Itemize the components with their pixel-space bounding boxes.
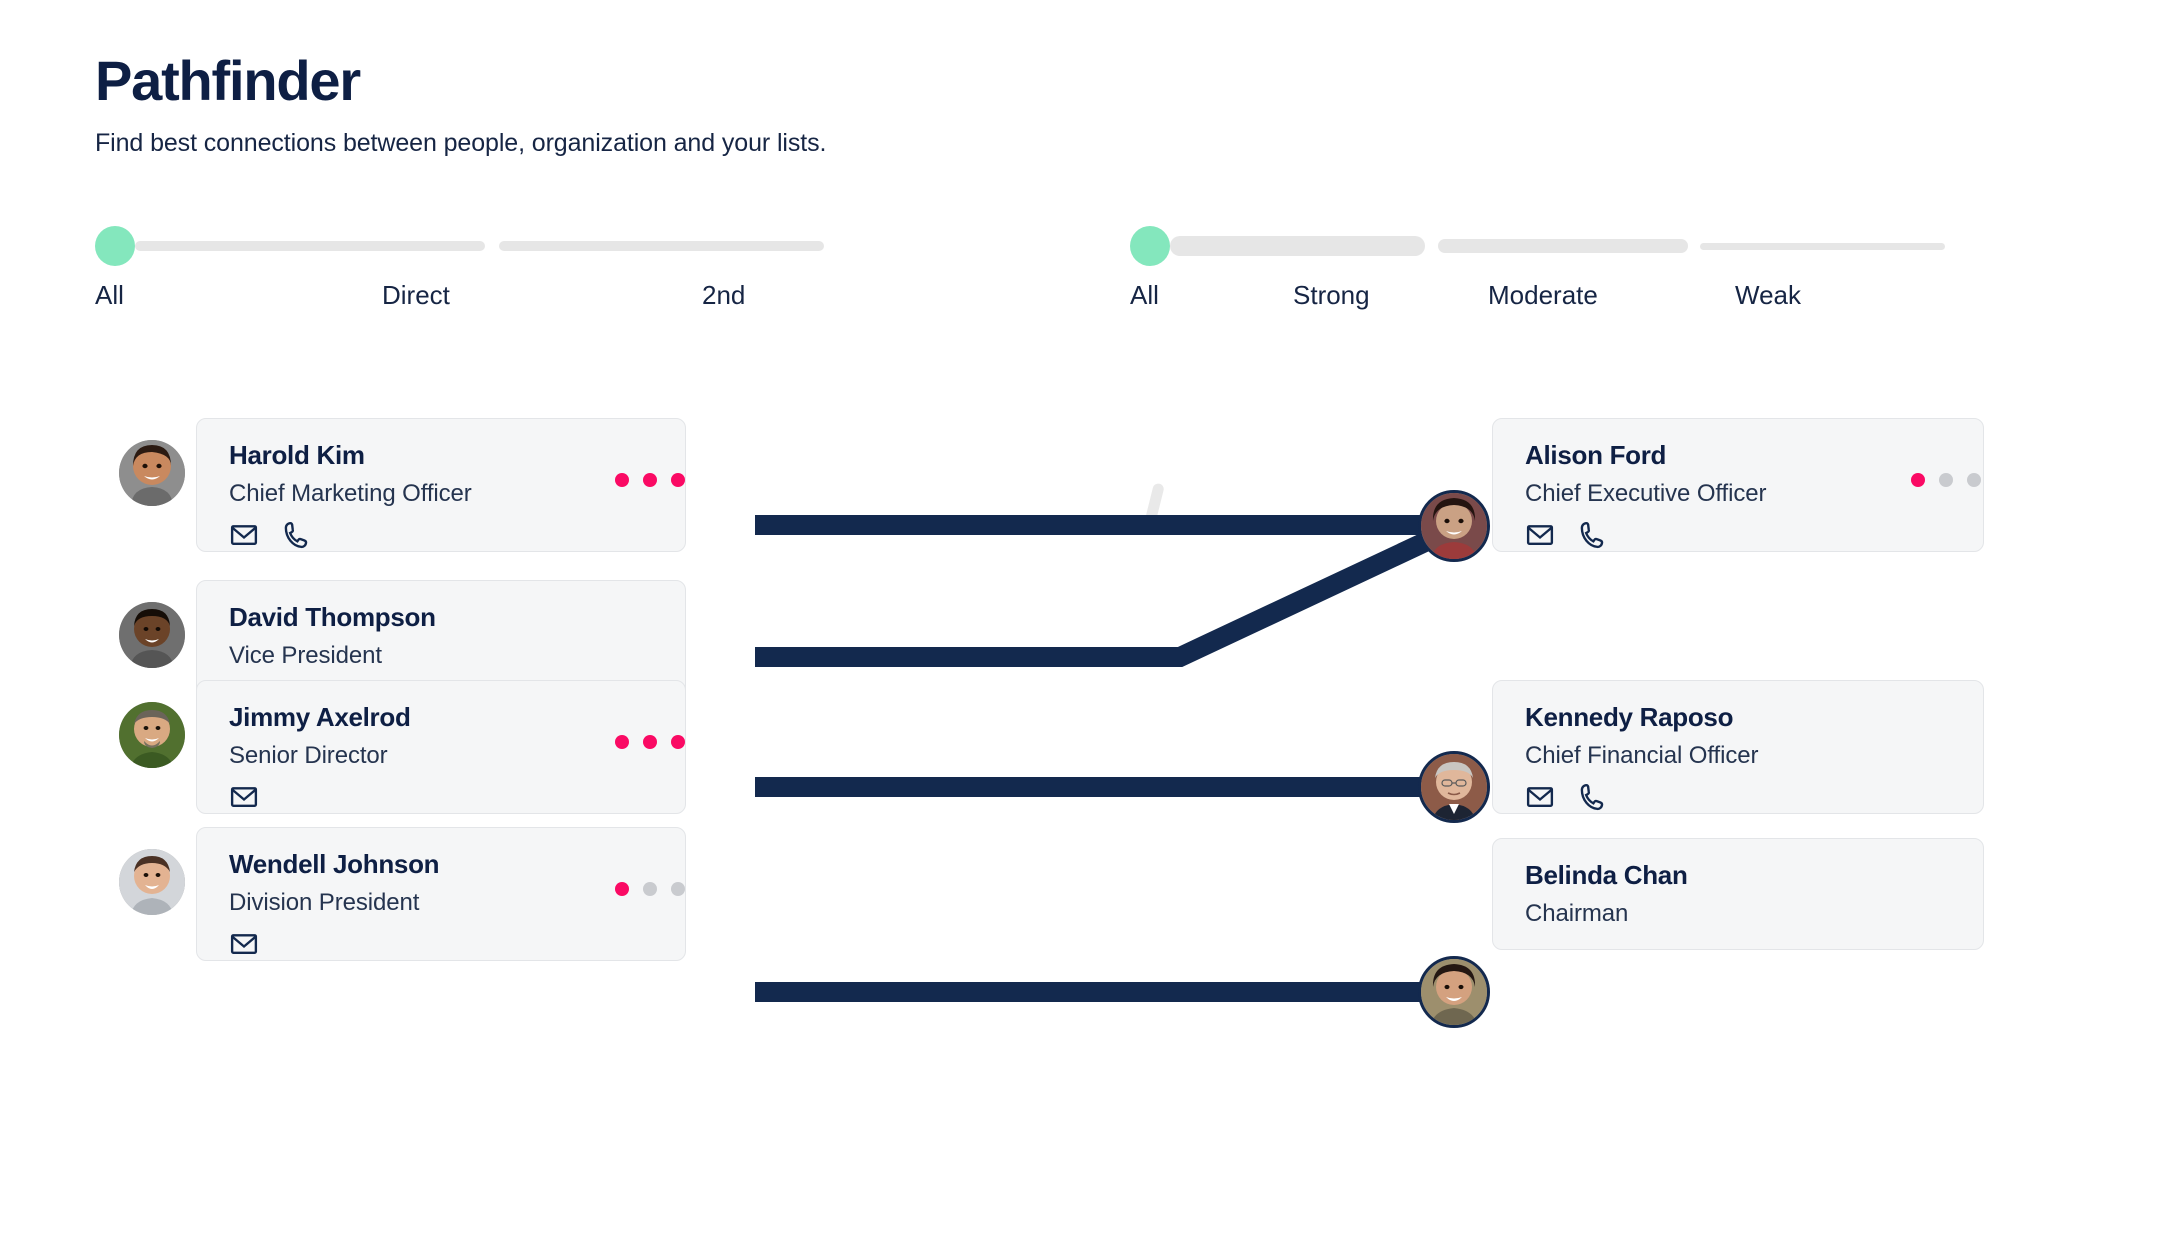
degree-slider-labels: All Direct 2nd [95,280,1015,326]
person-role: Division President [229,889,655,917]
strength-track-segment-2[interactable] [1438,239,1688,253]
connection-graph: Harold Kim Chief Marketing Officer [0,380,2178,1200]
person-role: Vice President [229,642,655,670]
email-icon[interactable] [1525,782,1555,812]
person-card-wendell-johnson[interactable]: Wendell Johnson Division President [196,827,686,961]
person-role: Chairman [1525,900,1953,928]
strength-track-segment-1[interactable] [1170,236,1425,256]
person-name: Alison Ford [1525,441,1953,471]
person-actions [229,520,655,550]
person-name: Jimmy Axelrod [229,703,655,733]
strength-dot [615,735,629,749]
person-role: Senior Director [229,742,655,770]
avatar-jimmy-axelrod[interactable] [119,702,185,768]
strength-dot [615,882,629,896]
strength-slider-track[interactable] [1130,218,2085,272]
person-card-harold-kim[interactable]: Harold Kim Chief Marketing Officer [196,418,686,552]
avatar-wendell-johnson[interactable] [119,849,185,915]
avatar-david-thompson[interactable] [119,602,185,668]
person-name: Harold Kim [229,441,655,471]
strength-dot [1967,473,1981,487]
page-subtitle: Find best connections between people, or… [95,129,826,158]
avatar-image [1421,493,1487,559]
connection-strength-slider[interactable]: All Strong Moderate Weak [1130,218,2085,326]
avatar-belinda-chan[interactable] [1418,956,1490,1028]
person-card-alison-ford[interactable]: Alison Ford Chief Executive Officer [1492,418,1984,552]
page-title: Pathfinder [95,52,826,111]
person-actions [229,782,655,812]
strength-dot [643,735,657,749]
connection-strength-indicator [1911,473,1981,487]
avatar-image [1421,959,1487,1025]
degree-slider-thumb[interactable] [95,226,135,266]
degree-track-segment-2[interactable] [499,241,824,251]
strength-dot [1939,473,1953,487]
strength-dot [615,473,629,487]
avatar-image [119,440,185,506]
email-icon[interactable] [229,520,259,550]
pathfinder-page: Pathfinder Find best connections between… [0,0,2178,1251]
email-icon[interactable] [229,929,259,959]
person-role: Chief Executive Officer [1525,480,1953,508]
degree-slider-track[interactable] [95,218,1015,272]
person-card-belinda-chan[interactable]: Belinda Chan Chairman [1492,838,1984,950]
email-icon[interactable] [1525,520,1555,550]
avatar-kennedy-raposo[interactable] [1418,751,1490,823]
degree-track-segment-1[interactable] [135,241,485,251]
person-actions [1525,520,1953,550]
connection-strength-indicator [615,882,685,896]
degree-option-direct[interactable]: Direct [382,280,450,311]
strength-dot [671,473,685,487]
avatar-image [119,602,185,668]
strength-option-all[interactable]: All [1130,280,1159,311]
strength-dot [671,882,685,896]
avatar-image [1421,754,1487,820]
filter-bar: All Direct 2nd All Strong Moderate Weak [95,218,2085,348]
page-header: Pathfinder Find best connections between… [95,52,826,158]
person-name: Belinda Chan [1525,861,1953,891]
avatar-harold-kim[interactable] [119,440,185,506]
strength-option-moderate[interactable]: Moderate [1488,280,1598,311]
phone-icon[interactable] [281,520,311,550]
strength-track-segment-3[interactable] [1700,243,1945,250]
strength-dot [643,473,657,487]
person-name: Wendell Johnson [229,850,655,880]
avatar-image [119,849,185,915]
connection-strength-indicator [615,735,685,749]
strength-option-strong[interactable]: Strong [1293,280,1370,311]
person-role: Chief Financial Officer [1525,742,1953,770]
strength-slider-thumb[interactable] [1130,226,1170,266]
person-name: Kennedy Raposo [1525,703,1953,733]
person-card-jimmy-axelrod[interactable]: Jimmy Axelrod Senior Director [196,680,686,814]
degree-option-2nd[interactable]: 2nd [702,280,745,311]
strength-slider-labels: All Strong Moderate Weak [1130,280,2085,326]
strength-option-weak[interactable]: Weak [1735,280,1801,311]
person-role: Chief Marketing Officer [229,480,655,508]
strength-dot [643,882,657,896]
person-name: David Thompson [229,603,655,633]
person-actions [1525,782,1953,812]
person-card-kennedy-raposo[interactable]: Kennedy Raposo Chief Financial Officer [1492,680,1984,814]
person-actions [229,929,655,959]
strength-dot [671,735,685,749]
phone-icon[interactable] [1577,782,1607,812]
email-icon[interactable] [229,782,259,812]
degree-option-all[interactable]: All [95,280,124,311]
connection-degree-slider[interactable]: All Direct 2nd [95,218,1015,326]
avatar-image [119,702,185,768]
avatar-alison-ford[interactable] [1418,490,1490,562]
connector-david-alison [755,528,1455,657]
phone-icon[interactable] [1577,520,1607,550]
connection-strength-indicator [615,473,685,487]
strength-dot [1911,473,1925,487]
